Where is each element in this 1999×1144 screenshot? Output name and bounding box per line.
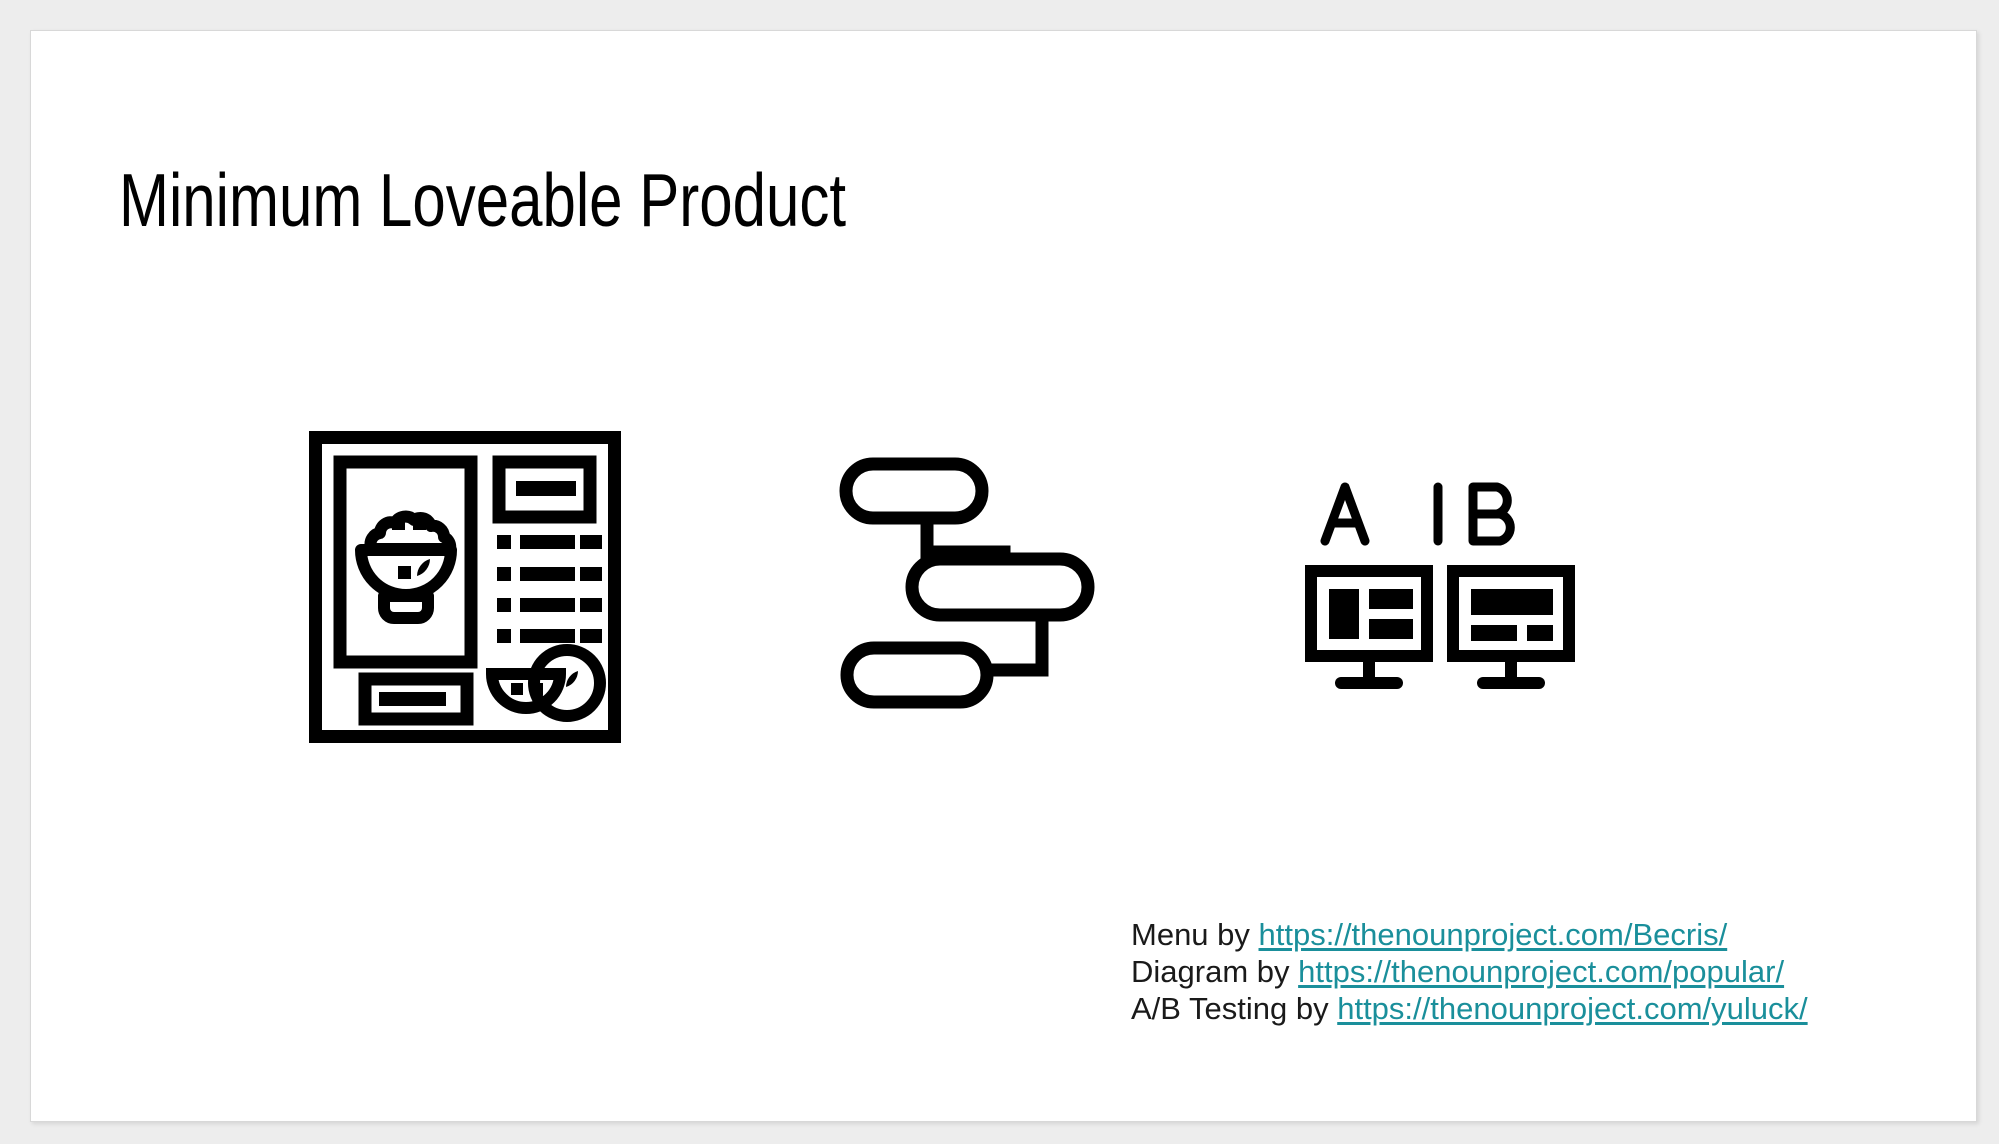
attribution-block: Menu by https://thenounproject.com/Becri… — [1131, 916, 1808, 1027]
attribution-link-menu[interactable]: https://thenounproject.com/Becris/ — [1259, 917, 1728, 952]
menu-icon — [309, 431, 621, 743]
attribution-line-menu: Menu by https://thenounproject.com/Becri… — [1131, 916, 1808, 953]
attribution-link-abtesting[interactable]: https://thenounproject.com/yuluck/ — [1337, 991, 1807, 1026]
presentation-slide: Minimum Loveable Product — [30, 30, 1977, 1122]
menu-icon-glyph — [309, 431, 621, 743]
page-title: Minimum Loveable Product — [119, 159, 846, 242]
attribution-line-diagram: Diagram by https://thenounproject.com/po… — [1131, 953, 1808, 990]
attribution-link-diagram[interactable]: https://thenounproject.com/popular/ — [1298, 954, 1784, 989]
attribution-label-diagram: Diagram by — [1131, 954, 1298, 989]
attribution-label-abtesting: A/B Testing by — [1131, 991, 1337, 1026]
attribution-label-menu: Menu by — [1131, 917, 1259, 952]
diagram-icon — [839, 456, 1099, 718]
diagram-icon-glyph — [839, 456, 1099, 718]
ab-testing-icon — [1301, 479, 1581, 699]
monitor-a — [1311, 571, 1427, 689]
monitor-b — [1453, 571, 1569, 689]
attribution-line-abtesting: A/B Testing by https://thenounproject.co… — [1131, 990, 1808, 1027]
ab-testing-icon-glyph — [1301, 479, 1581, 699]
